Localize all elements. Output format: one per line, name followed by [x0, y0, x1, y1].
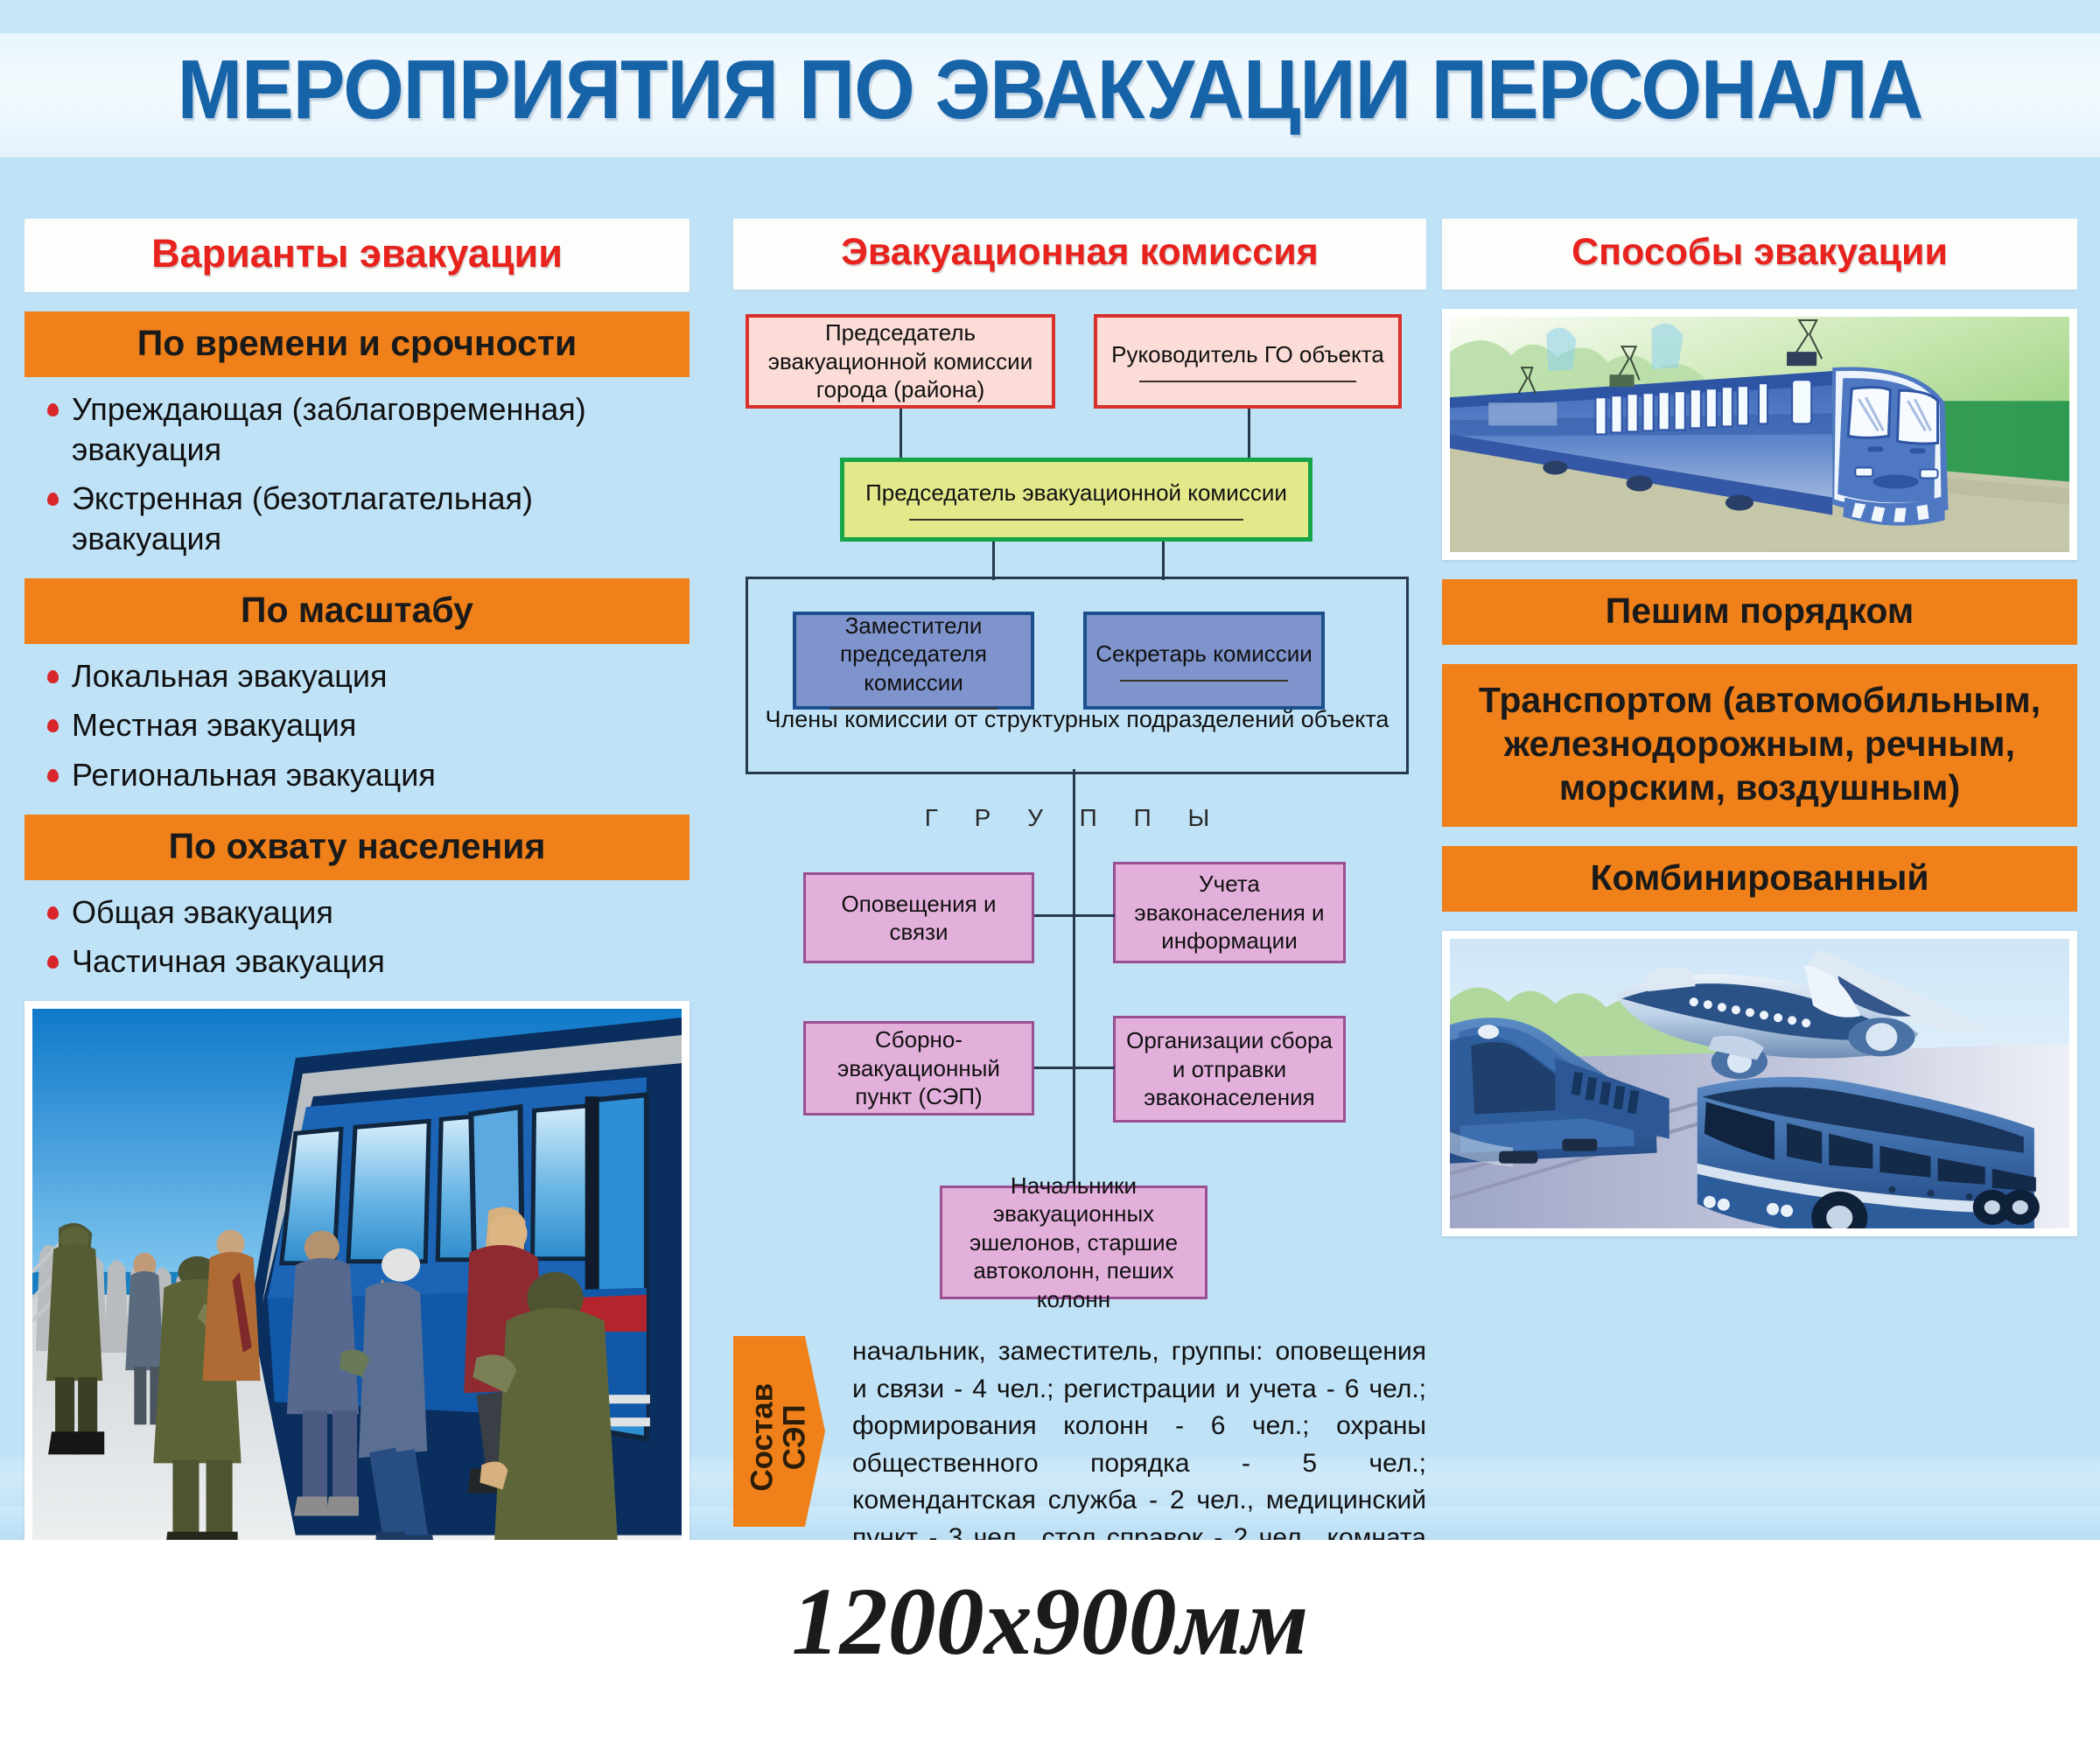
- bus-boarding-photo: [24, 1001, 689, 1540]
- airplane-train-bus-illustration: [1450, 939, 2069, 1228]
- node-deputy-chairmen: Заместители председателя комиссии: [793, 612, 1034, 710]
- bar-by-scale: По масштабу: [24, 578, 689, 644]
- middle-heading-text: Эвакуационная комиссия: [841, 231, 1318, 273]
- list-by-scale: Локальная эвакуация Местная эвакуация Ре…: [24, 656, 689, 794]
- poster-canvas: МЕРОПРИЯТИЯ ПО ЭВАКУАЦИИ ПЕРСОНАЛА Вариа…: [0, 0, 2100, 1540]
- page-title: МЕРОПРИЯТИЯ ПО ЭВАКУАЦИИ ПЕРСОНАЛА: [73, 42, 2026, 138]
- column-evacuation-commission: Эвакуационная комиссия Председатель эвак…: [733, 219, 1426, 1540]
- node-civil-defense-head: Руководитель ГО объекта: [1094, 314, 1402, 409]
- signature-line: [909, 519, 1243, 521]
- column-evacuation-methods: Способы эвакуации: [1442, 219, 2077, 1236]
- groups-label: Г Р У П П Ы: [891, 804, 1258, 832]
- list-item: Упреждающая (заблаговременная) эвакуация: [44, 389, 684, 470]
- sep-tag-line2: СЭП: [777, 1404, 811, 1470]
- signature-line: [1120, 680, 1289, 682]
- list-item: Общая эвакуация: [44, 892, 684, 933]
- commission-org-chart: Председатель эвакуационной комиссии горо…: [733, 307, 1426, 1331]
- list-item: Частичная эвакуация: [44, 941, 684, 982]
- right-heading-text: Способы эвакуации: [1571, 231, 1948, 273]
- list-by-time-and-urgency: Упреждающая (заблаговременная) эвакуация…: [24, 389, 689, 559]
- electric-commuter-train-illustration: [1450, 317, 2069, 552]
- left-column-heading: Варианты эвакуации: [24, 219, 689, 292]
- middle-column-heading: Эвакуационная комиссия: [733, 219, 1426, 290]
- list-item: Локальная эвакуация: [44, 656, 684, 696]
- column-evacuation-variants: Варианты эвакуации По времени и срочност…: [24, 219, 689, 1540]
- sep-composition-text: начальник, заместитель, группы: оповещен…: [852, 1333, 1426, 1540]
- list-item: Региональная эвакуация: [44, 755, 684, 795]
- node-group-collection-dispatch: Организации сбора и отправки эваконаселе…: [1113, 1016, 1346, 1123]
- bar-combined: Комбинированный: [1442, 846, 2077, 912]
- bar-on-foot: Пешим порядком: [1442, 579, 2077, 645]
- node-city-evacuation-commission-chairman: Председатель эвакуационной комиссии горо…: [745, 314, 1055, 409]
- connector-line: [992, 542, 995, 580]
- node-group-notification-communication: Оповещения и связи: [803, 872, 1034, 963]
- connector-line: [899, 409, 902, 459]
- signature-line: [1139, 381, 1356, 382]
- node-group-echelon-column-chiefs: Начальники эвакуационных эшелонов, старш…: [940, 1186, 1207, 1299]
- list-by-population-coverage: Общая эвакуация Частичная эвакуация: [24, 892, 689, 982]
- node-group-evacuee-registration-info: Учета эваконаселения и информации: [1113, 862, 1346, 963]
- list-item: Экстренная (безотлагательная) эвакуация: [44, 479, 684, 559]
- node-commission-secretary: Секретарь комиссии: [1083, 612, 1325, 710]
- bg-band-top: [0, 0, 2100, 33]
- node-commission-chairman: Председатель эвакуационной комиссии: [840, 458, 1312, 542]
- connector-line: [1034, 1067, 1115, 1069]
- people-boarding-bus-illustration: [32, 1009, 682, 1540]
- multimodal-transport-photo: [1442, 931, 2077, 1236]
- train-photo: [1442, 309, 2077, 560]
- sep-tag-label: СоставСЭП: [746, 1342, 811, 1533]
- connector-line: [1162, 542, 1165, 580]
- sep-composition-tag: СоставСЭП: [733, 1336, 825, 1527]
- bar-by-time-and-urgency: По времени и срочности: [24, 311, 689, 377]
- left-heading-text: Варианты эвакуации: [151, 231, 563, 276]
- connector-line: [1248, 409, 1250, 459]
- list-item: Местная эвакуация: [44, 705, 684, 745]
- node-group-assembly-evacuation-point: Сборно-эвакуационный пункт (СЭП): [803, 1021, 1034, 1116]
- size-caption: 1200x900мм: [0, 1566, 2100, 1677]
- right-column-heading: Способы эвакуации: [1442, 219, 2077, 290]
- sep-composition-block: СоставСЭП начальник, заместитель, группы…: [733, 1336, 1426, 1540]
- bar-by-transport: Транспортом (автомобильным, железнодорож…: [1442, 664, 2077, 827]
- commission-members-label: Члены комиссии от структурных подразделе…: [748, 706, 1406, 733]
- sep-tag-line1: Состав: [745, 1383, 779, 1492]
- signature-line: [829, 708, 998, 710]
- bar-by-population-coverage: По охвату населения: [24, 815, 689, 880]
- connector-line: [1034, 914, 1115, 917]
